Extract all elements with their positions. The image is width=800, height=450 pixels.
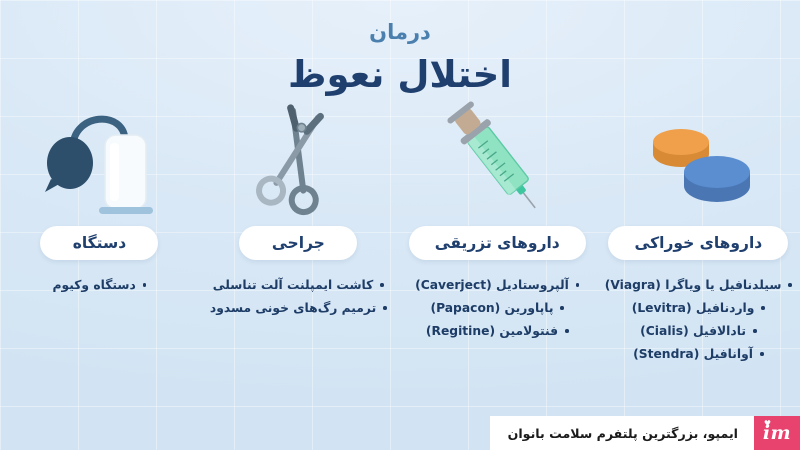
footer-bar: ♥im ایمپو، بزرگترین پلتفرم سلامت بانوان — [490, 416, 800, 450]
list-item-label: دستگاه وکیوم — [53, 278, 136, 292]
infographic-canvas: درمان اختلال نعوظ داروهای خوراکی سیلد — [0, 0, 800, 450]
column-device: دستگاه دستگاه وکیوم — [0, 96, 199, 396]
footer-tagline: ایمپو، بزرگترین پلتفرم سلامت بانوان — [490, 416, 754, 450]
category-label-device[interactable]: دستگاه — [40, 226, 158, 260]
list-item: تادالافیل (Cialis) — [640, 324, 756, 338]
list-item: دستگاه وکیوم — [53, 278, 147, 292]
list-item-label: فنتولامین (Regitine) — [426, 324, 558, 338]
columns-container: داروهای خوراکی سیلدنافیل یا ویاگرا (Viag… — [0, 96, 800, 396]
list-device: دستگاه وکیوم — [0, 278, 199, 292]
list-oral-drugs: سیلدنافیل یا ویاگرا (Viagra) واردنافیل (… — [597, 278, 800, 361]
list-item: فنتولامین (Regitine) — [426, 324, 569, 338]
list-item: واردنافیل (Levitra) — [632, 301, 765, 315]
bullet-dot — [380, 283, 384, 287]
bullet-dot — [753, 329, 757, 333]
syringe-icon — [398, 96, 597, 226]
list-item: آوانافیل (Stendra) — [633, 347, 763, 361]
header-subtitle: درمان — [0, 22, 800, 43]
list-item: آلپروستادیل (Caverject) — [415, 278, 579, 292]
column-oral-drugs: داروهای خوراکی سیلدنافیل یا ویاگرا (Viag… — [597, 96, 800, 396]
bullet-dot — [560, 306, 564, 310]
bullet-dot — [760, 352, 764, 356]
list-item-label: آوانافیل (Stendra) — [633, 347, 753, 361]
bullet-dot — [788, 283, 792, 287]
column-surgery: جراحی کاشت ایمپلنت آلت تناسلی ترمیم رگ‌ه… — [199, 96, 398, 396]
header: درمان اختلال نعوظ — [0, 22, 800, 93]
list-surgery: کاشت ایمپلنت آلت تناسلی ترمیم رگ‌های خون… — [199, 278, 398, 315]
bullet-dot — [383, 306, 387, 310]
list-item-label: کاشت ایمپلنت آلت تناسلی — [213, 278, 374, 292]
bullet-dot — [761, 306, 765, 310]
bullet-dot — [143, 283, 147, 287]
vacuum-pump-icon — [0, 96, 199, 226]
list-item-label: تادالافیل (Cialis) — [640, 324, 746, 338]
list-item-label: ترمیم رگ‌های خونی مسدود — [210, 301, 376, 315]
brand-logo-text: ♥im — [763, 422, 791, 444]
list-item-label: سیلدنافیل یا ویاگرا (Viagra) — [605, 278, 782, 292]
category-label-injectable-drugs[interactable]: داروهای تزریقی — [409, 226, 586, 260]
list-item: ترمیم رگ‌های خونی مسدود — [210, 301, 387, 315]
list-item: کاشت ایمپلنت آلت تناسلی — [213, 278, 384, 292]
list-item-label: واردنافیل (Levitra) — [632, 301, 755, 315]
bullet-dot — [565, 329, 569, 333]
category-label-oral-drugs[interactable]: داروهای خوراکی — [608, 226, 788, 260]
surgical-scissors-icon — [199, 96, 398, 226]
list-item: سیلدنافیل یا ویاگرا (Viagra) — [605, 278, 792, 292]
list-item: پاپاورین (Papacon) — [430, 301, 564, 315]
category-label-surgery[interactable]: جراحی — [239, 226, 357, 260]
tablets-icon — [597, 96, 800, 226]
column-injectable-drugs: داروهای تزریقی آلپروستادیل (Caverject) پ… — [398, 96, 597, 396]
bullet-dot — [576, 283, 580, 287]
heart-icon: ♥ — [764, 419, 772, 427]
list-injectable-drugs: آلپروستادیل (Caverject) پاپاورین (Papaco… — [398, 278, 597, 338]
list-item-label: پاپاورین (Papacon) — [430, 301, 553, 315]
brand-logo[interactable]: ♥im — [754, 416, 800, 450]
list-item-label: آلپروستادیل (Caverject) — [415, 278, 569, 292]
page-title: اختلال نعوظ — [0, 56, 800, 93]
